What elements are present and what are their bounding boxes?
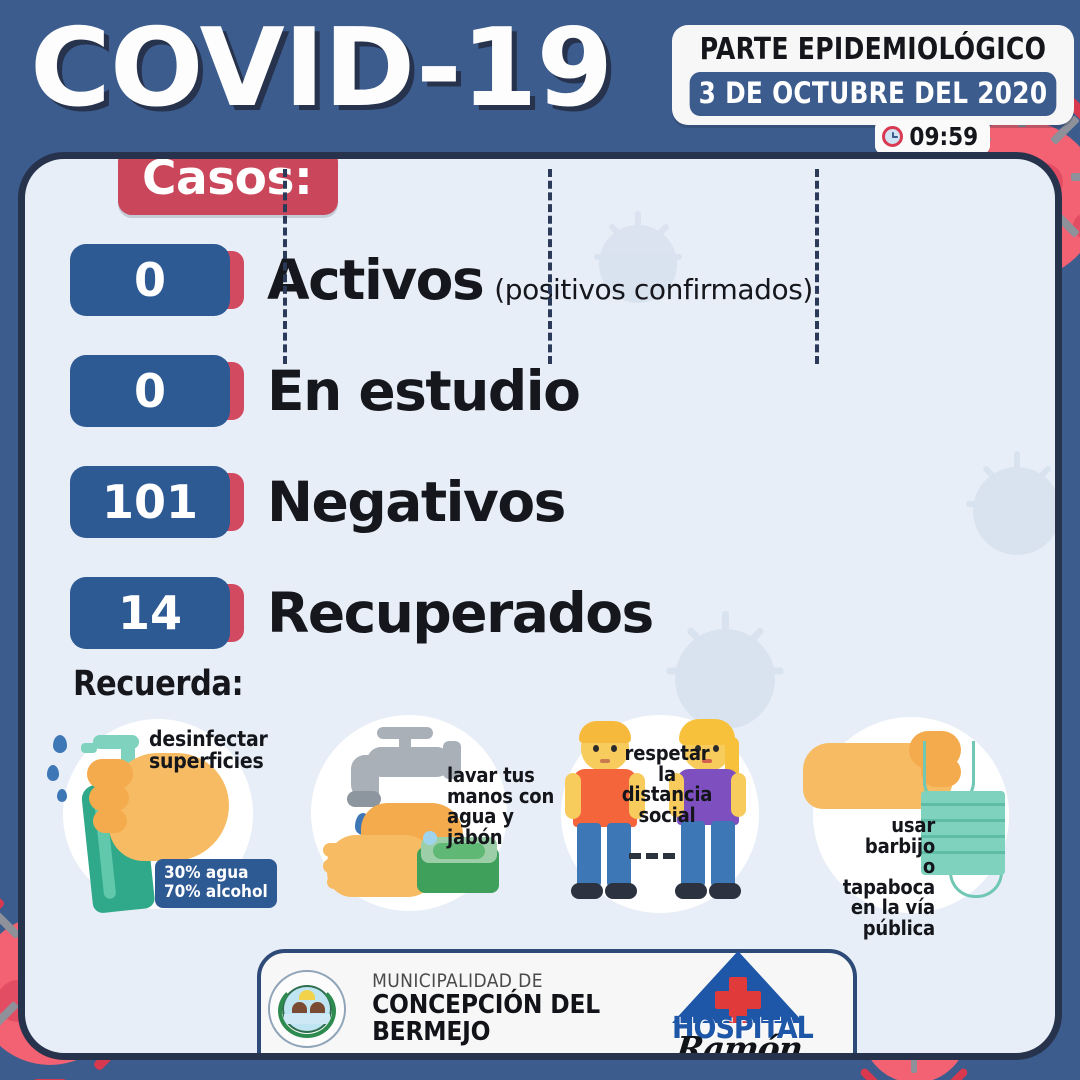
case-note: (positivos confirmados) (494, 273, 813, 306)
reminder-separator-1 (283, 169, 287, 364)
case-label: Recuperados (267, 581, 653, 645)
case-label: Activos (267, 248, 483, 312)
case-value: 0 (70, 244, 230, 316)
municipality-crest-icon (268, 970, 346, 1048)
reminder-separator-2 (548, 169, 552, 364)
reminders-list: desinfectarsuperficies 30% agua70% alcoh… (47, 707, 1047, 922)
virus-watermark-2 (955, 449, 1062, 574)
clock-icon (882, 126, 903, 147)
report-label: PARTE EPIDEMIOLÓGICO (694, 32, 1053, 67)
municipality-line1: MUNICIPALIDAD DE (372, 971, 600, 991)
case-label: Negativos (267, 470, 565, 534)
case-value-pill: 14 (70, 577, 245, 649)
time-badge: 09:59 (875, 120, 990, 154)
cases-section-label: Casos: (118, 152, 338, 215)
case-value-pill: 0 (70, 244, 245, 316)
case-value-pill: 0 (70, 355, 245, 427)
case-value-pill: 101 (70, 466, 245, 538)
reminder-caption: respetar ladistanciasocial (615, 743, 719, 825)
hospital-name: Ramón Álvarez (624, 1029, 850, 1060)
report-date: 3 DE OCTUBRE DEL 2020 (690, 72, 1057, 116)
reminder-item-mask: usar barbijoo tapabocaen la víapública (797, 707, 1047, 922)
cases-list: 0 Activos (positivos confirmados) 0 En e… (70, 237, 813, 681)
main-card: Casos: 0 Activos (positivos confirmados) (18, 152, 1062, 1060)
footer-logos: MUNICIPALIDAD DE CONCEPCIÓN DEL BERMEJO … (257, 949, 857, 1060)
case-value: 101 (70, 466, 230, 538)
alcohol-ratio-badge: 30% agua70% alcohol (155, 859, 277, 908)
case-label: En estudio (267, 359, 579, 423)
reminder-item-distance: respetar ladistanciasocial (547, 707, 797, 922)
reminders-heading: Recuerda: (73, 664, 243, 704)
infographic-root: COVID-19 PARTE EPIDEMIOLÓGICO 3 DE OCTUB… (0, 0, 1080, 1080)
case-value: 14 (70, 577, 230, 649)
reminder-item-handwash: lavar tusmanos conagua y jabón (297, 707, 547, 922)
municipality-line3: BERMEJO (372, 1019, 600, 1047)
reminder-item-disinfect: desinfectarsuperficies 30% agua70% alcoh… (47, 707, 297, 922)
case-row-activos: 0 Activos (positivos confirmados) (70, 237, 813, 323)
case-row-en-estudio: 0 En estudio (70, 348, 813, 434)
case-value: 0 (70, 355, 230, 427)
page-title: COVID-19 (30, 6, 612, 131)
report-badge: PARTE EPIDEMIOLÓGICO 3 DE OCTUBRE DEL 20… (672, 25, 1074, 125)
time-value: 09:59 (910, 122, 979, 151)
hospital-logo: HOSPITAL Ramón Álvarez (626, 955, 846, 1060)
reminder-separator-3 (815, 169, 819, 364)
reminder-caption: desinfectarsuperficies (149, 729, 267, 772)
reminder-caption: usar barbijoo tapabocaen la víapública (825, 815, 935, 939)
case-row-recuperados: 14 Recuperados (70, 570, 813, 656)
municipality-text: MUNICIPALIDAD DE CONCEPCIÓN DEL BERMEJO (372, 971, 600, 1046)
case-row-negativos: 101 Negativos (70, 459, 813, 545)
municipality-line2: CONCEPCIÓN DEL (372, 992, 600, 1020)
reminder-caption: lavar tusmanos conagua y jabón (447, 765, 559, 847)
